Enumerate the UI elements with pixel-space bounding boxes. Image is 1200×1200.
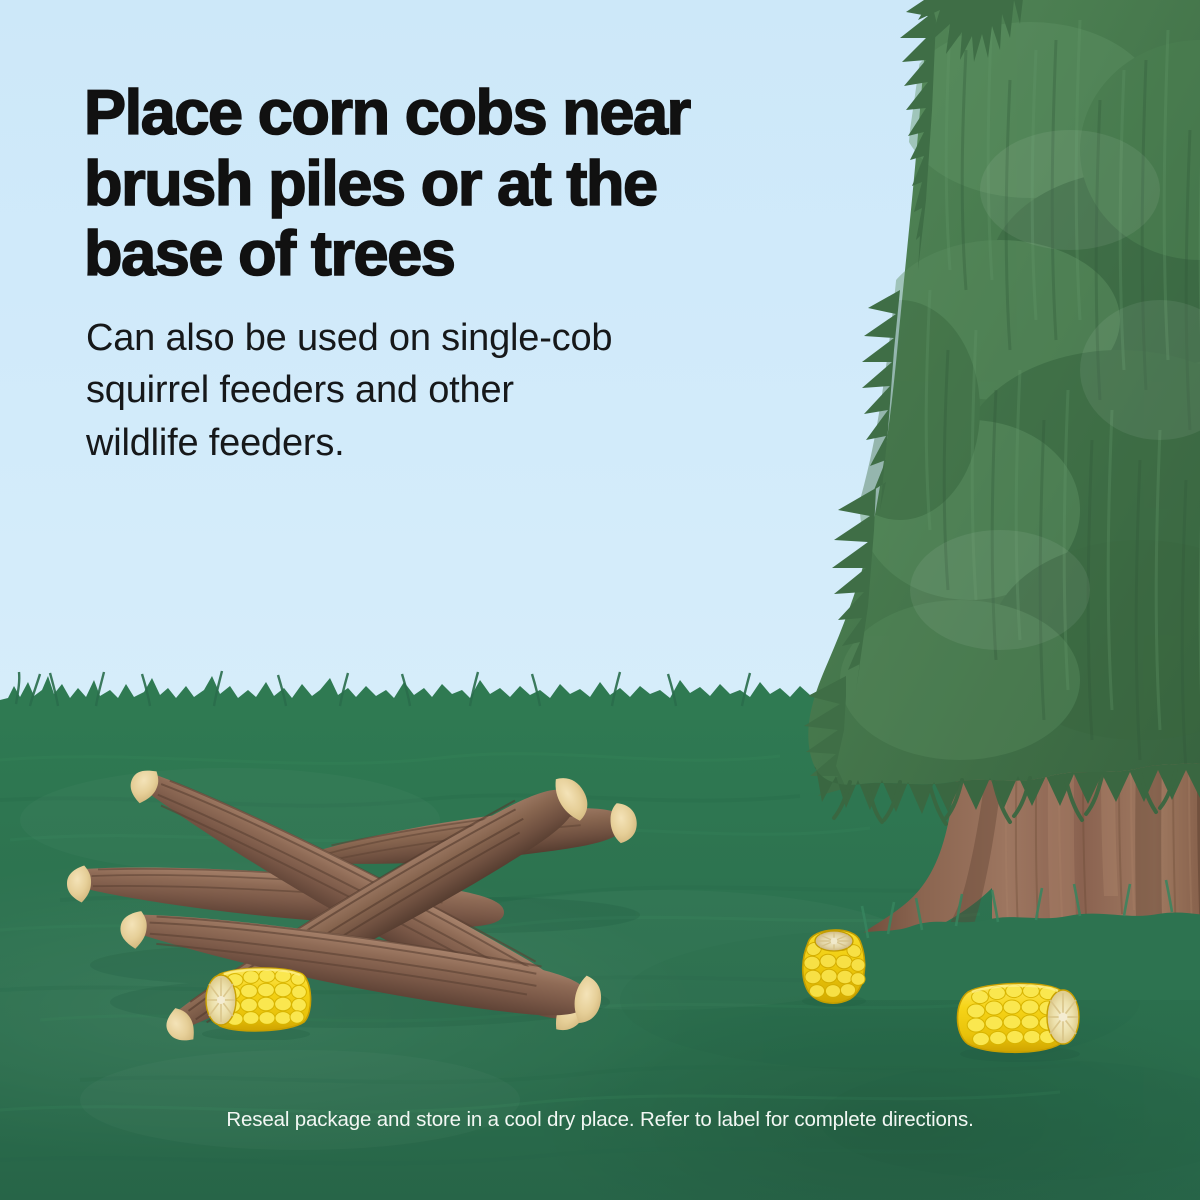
- footnote-text: Reseal package and store in a cool dry p…: [0, 1108, 1200, 1132]
- corn-cob-at-tree-base: [950, 970, 1090, 1062]
- instruction-card: Place corn cobs near brush piles or at t…: [0, 0, 1200, 1200]
- pine-foliage: [804, 0, 1200, 824]
- corn-cob-midground: [790, 915, 876, 1007]
- corn-cob-at-brush-pile: [190, 960, 320, 1040]
- page-title: Place corn cobs near brush piles or at t…: [84, 78, 764, 290]
- subtitle-text: Can also be used on single-cob squirrel …: [86, 312, 746, 469]
- brush-pile: [60, 750, 660, 1060]
